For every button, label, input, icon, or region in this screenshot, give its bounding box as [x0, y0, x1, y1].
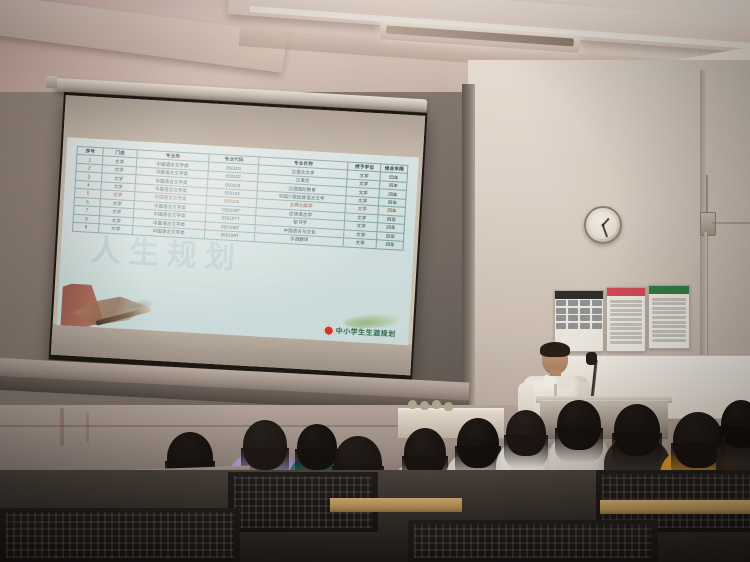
- student-head: [243, 420, 287, 470]
- cell-category: 文学: [99, 224, 133, 234]
- poster-line: [610, 304, 642, 307]
- slide-logo: 中小学生生涯规划: [323, 311, 402, 341]
- poster-line: [652, 298, 686, 301]
- poster-cell: [580, 323, 590, 329]
- clock-center-dot: [602, 224, 605, 227]
- student-head: [721, 400, 750, 448]
- cell-degree: 文学: [343, 238, 377, 248]
- poster-cell: [592, 308, 602, 314]
- poster-line: [610, 332, 642, 335]
- poster-line: [610, 313, 642, 316]
- poster-line: [652, 321, 686, 324]
- major-catalogue-table: 序号 门类 专业类 专业代码 专业名称 授予学位 修业年限 1文学中国语言文学类…: [72, 146, 408, 251]
- desk-top-front-right: [600, 500, 750, 514]
- poster-cell: [580, 308, 590, 314]
- poster-line: [610, 300, 642, 303]
- student-head: [557, 400, 601, 450]
- poster-cell: [568, 323, 578, 329]
- projector-screen-roller-cap: [46, 76, 57, 88]
- wall-clock: [584, 206, 622, 244]
- poster-header-red: [607, 288, 645, 296]
- poster-cell: [592, 315, 602, 321]
- poster-line: [610, 336, 642, 339]
- bench-foreground-left[interactable]: [0, 508, 240, 562]
- poster-cell: [568, 308, 578, 314]
- poster-line: [610, 323, 642, 326]
- classroom-screenshot: 人生规划 序号 门类 专业类 专业代码 专业名称 授予学位 修业年限: [0, 0, 750, 562]
- desk-item: [408, 400, 417, 409]
- bench-perforation: [6, 512, 234, 558]
- microphone-icon: [586, 352, 597, 365]
- slide-decoration-brush: [61, 283, 183, 332]
- poster-line: [610, 327, 642, 330]
- wall-socket[interactable]: [700, 212, 716, 236]
- bench-foreground-center[interactable]: [408, 520, 658, 562]
- desk-item: [420, 401, 429, 410]
- desk-item: [444, 402, 453, 411]
- poster-line: [610, 341, 642, 344]
- wall-mark: [86, 412, 89, 442]
- poster-cell: [556, 300, 566, 306]
- poster-line: [652, 325, 686, 328]
- poster-cell: [556, 308, 566, 314]
- poster-cell: [568, 300, 578, 306]
- poster-cell: [556, 323, 566, 329]
- bench-perforation: [414, 524, 652, 558]
- wall-poster-red: [606, 287, 646, 352]
- desk-item: [432, 400, 441, 409]
- logo-text: 中小学生生涯规划: [335, 326, 395, 339]
- desk-top-front-left: [330, 498, 462, 512]
- poster-line: [652, 302, 686, 305]
- student-head: [614, 404, 660, 456]
- poster-line: [652, 334, 686, 337]
- poster-line: [652, 311, 686, 314]
- student-head: [457, 418, 499, 468]
- poster-body-red: [607, 296, 645, 348]
- wall-corner-post: [462, 84, 475, 424]
- poster-cell: [580, 315, 590, 321]
- poster-cell: [568, 315, 578, 321]
- cell-index: 9: [73, 222, 100, 232]
- poster-line: [610, 318, 642, 321]
- poster-cell: [556, 315, 566, 321]
- poster-line: [652, 339, 686, 342]
- wall-mark: [60, 408, 64, 446]
- poster-cell: [592, 300, 602, 306]
- poster-cell: [580, 300, 590, 306]
- cell-duration: 四年: [376, 240, 403, 250]
- poster-line: [652, 330, 686, 333]
- poster-header-black: [555, 291, 603, 299]
- student-head: [506, 410, 546, 456]
- poster-line: [652, 307, 686, 310]
- right-wall-trim: [712, 222, 750, 224]
- poster-grid-black: [555, 299, 603, 330]
- projection-screen[interactable]: 人生规划 序号 门类 专业类 专业代码 专业名称 授予学位 修业年限: [49, 92, 428, 381]
- poster-header-green: [649, 286, 689, 294]
- wall-poster-green: [648, 285, 690, 349]
- poster-line: [610, 309, 642, 312]
- poster-body-green: [649, 294, 689, 346]
- cell-major-code: 050109T: [205, 230, 255, 241]
- projected-slide: 人生规划 序号 门类 专业类 专业代码 专业名称 授予学位 修业年限: [57, 137, 419, 345]
- presenter-hair: [540, 342, 570, 357]
- front-desk-items: [408, 400, 470, 410]
- poster-line: [652, 316, 686, 319]
- logo-badge-icon: [323, 325, 334, 336]
- poster-cell: [592, 323, 602, 329]
